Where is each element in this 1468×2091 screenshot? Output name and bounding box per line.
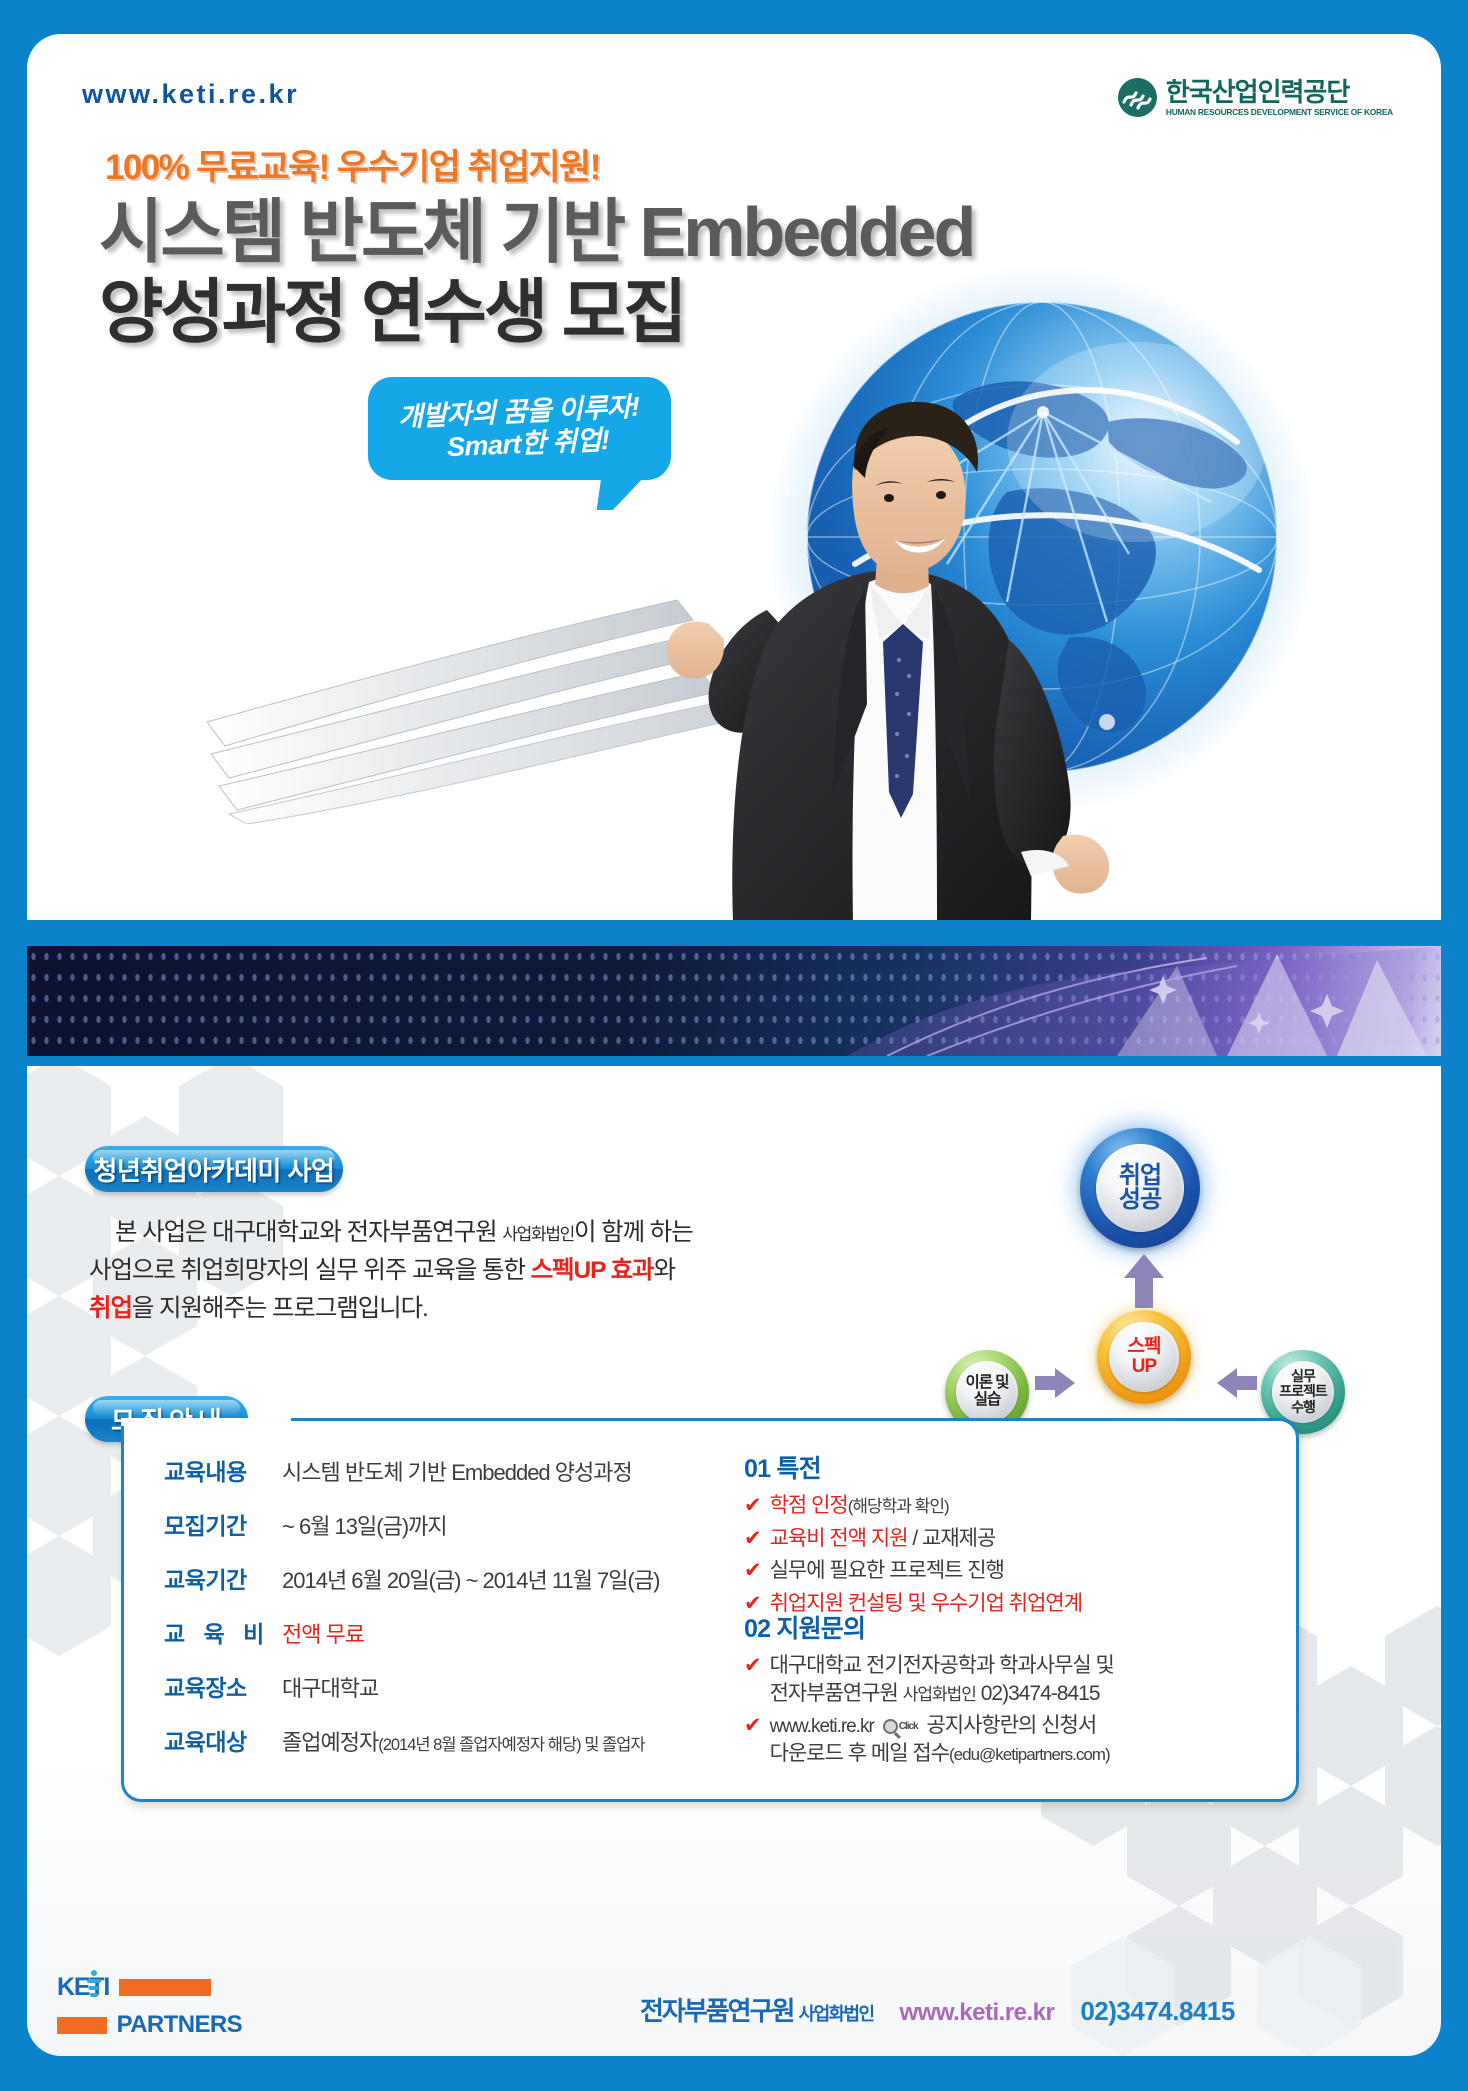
table-row: 교육내용 시스템 반도체 기반 Embedded 양성과정 [164, 1453, 659, 1493]
row-value: 시스템 반도체 기반 Embedded 양성과정 [282, 1455, 632, 1487]
row-label: 모집기간 [164, 1507, 282, 1541]
diagram-arrow-left-icon [1217, 1368, 1257, 1398]
hrd-logo-english: HUMAN RESOURCES DEVELOPMENT SERVICE OF K… [1166, 108, 1393, 116]
inquiry-phone: 02)3474-8415 [976, 1682, 1100, 1705]
content-card: 청년취업아카데미 사업 본 사업은 대구대학교와 전자부품연구원 사업화법인이 … [27, 1066, 1441, 2056]
hrd-logo-mark-icon [1118, 78, 1157, 117]
keti-partners-logo: KETI PARTNERS [57, 1973, 242, 2037]
benefits-block: 01 특전 ✔ 학점 인정(해당학과 확인) ✔ 교육비 전액 지원 / 교재제… [744, 1449, 1082, 1623]
click-label: Click [899, 1720, 918, 1733]
logo-dots-icon [86, 1969, 102, 2001]
list-item: ✔ www.keti.re.kr Click 공지사항란의 신청서 다운로드 후… [744, 1712, 1114, 1767]
table-row: 교 육 비 전액 무료 [164, 1615, 659, 1655]
intro-3b: 을 지원해주는 프로그램입니다. [132, 1295, 428, 1322]
intro-3a: 취업 [89, 1295, 132, 1322]
hrd-logo-korean: 한국산업인력공단 [1166, 79, 1393, 105]
logo-bar-top [119, 1979, 211, 1996]
check-icon: ✔ [744, 1652, 761, 1707]
node-project-line3: 수행 [1279, 1400, 1327, 1415]
benefits-title: 특전 [776, 1455, 820, 1483]
list-item: ✔ 실무에 필요한 프로젝트 진행 [744, 1557, 1082, 1585]
row-label: 교육대상 [164, 1723, 282, 1757]
hero-title-line2: 양성과정 연수생 모집 [99, 256, 685, 357]
table-row: 모집기간 ~ 6월 13일(금)까지 [164, 1507, 659, 1547]
hero-card: www.keti.re.kr 한국산업인력공단 HUMAN RESOURCES … [27, 34, 1441, 920]
check-icon: ✔ [744, 1525, 761, 1553]
tech-banner [27, 946, 1441, 1056]
row-label: 교 육 비 [164, 1615, 282, 1649]
businessman-photo [617, 374, 1177, 920]
diagram-node-success: 취업 성공 [1080, 1128, 1200, 1248]
row-value: ~ 6월 13일(금)까지 [282, 1509, 447, 1541]
check-icon: ✔ [744, 1712, 761, 1767]
inquiry-item2-line1: 공지사항란의 신청서 [926, 1714, 1096, 1737]
website-url-top[interactable]: www.keti.re.kr [82, 79, 299, 110]
intro-2c: 와 [653, 1257, 674, 1284]
bubble-line-2: Smart한 취업! [446, 424, 610, 463]
table-row: 교육대상 졸업예정자(2014년 8월 졸업자예정자 해당) 및 졸업자 [164, 1723, 659, 1763]
hrd-korea-logo: 한국산업인력공단 HUMAN RESOURCES DEVELOPMENT SER… [1118, 78, 1393, 117]
academy-intro-text: 본 사업은 대구대학교와 전자부품연구원 사업화법인이 함께 하는 사업으로 취… [89, 1214, 709, 1329]
diagram-node-spec-up: 스펙 UP [1097, 1310, 1191, 1404]
benefits-number: 01 [744, 1455, 770, 1483]
row-value: 대구대학교 [282, 1671, 378, 1703]
footer-url[interactable]: www.keti.re.kr [899, 1999, 1054, 2027]
intro-1a: 본 사업은 대구대학교와 전자부품연구원 [115, 1219, 502, 1246]
node-theory-line2: 실습 [965, 1392, 1008, 1409]
recruitment-info-box: 교육내용 시스템 반도체 기반 Embedded 양성과정 모집기간 ~ 6월 … [121, 1418, 1299, 1802]
diagram-arrow-up-icon [1122, 1254, 1166, 1308]
node-spec-line2: UP [1128, 1357, 1161, 1377]
section-header-academy: 청년취업아카데미 사업 [85, 1146, 343, 1192]
inquiry-title: 지원문의 [776, 1615, 865, 1643]
row-value: 졸업예정자 [282, 1730, 378, 1755]
inquiry-block: 02 지원문의 ✔ 대구대학교 전기전자공학과 학과사무실 및 전자부품연구원 … [744, 1609, 1114, 1773]
benefit-plain: 실무에 필요한 프로젝트 진행 [770, 1557, 1004, 1585]
diagram-arrow-right-icon [1035, 1368, 1075, 1398]
footer-org-note: 사업화법인 [799, 2004, 874, 2024]
row-label: 교육기간 [164, 1561, 282, 1595]
speech-bubble: 개발자의 꿈을 이루자! Smart한 취업! [368, 377, 671, 480]
footer-contact: 전자부품연구원 사업화법인 www.keti.re.kr 02)3474.841… [640, 1991, 1235, 2028]
intro-2a: 사업으로 취업희망자의 실무 위주 교육을 통한 [89, 1257, 531, 1284]
benefit-plain: / 교재제공 [908, 1527, 996, 1550]
click-here-indicator[interactable]: Click [883, 1719, 918, 1734]
node-theory-line1: 이론 및 [965, 1375, 1008, 1392]
row-label: 교육장소 [164, 1669, 282, 1703]
benefit-red: 교육비 전액 지원 [770, 1527, 908, 1550]
node-project-line2: 프로젝트 [1279, 1384, 1327, 1399]
intro-2b: 스펙UP 효과 [531, 1257, 654, 1284]
row-label: 교육내용 [164, 1453, 282, 1487]
inquiry-line2b: 사업화법인 [903, 1685, 976, 1704]
footer-tel[interactable]: 02)3474.8415 [1080, 1996, 1234, 2027]
node-spec-line1: 스펙 [1128, 1337, 1161, 1357]
logo-bar-bottom [57, 2017, 107, 2034]
inquiry-item2-line2a: 다운로드 후 메일 접수 [770, 1742, 949, 1765]
node-project-line1: 실무 [1279, 1369, 1327, 1384]
poster-root: www.keti.re.kr 한국산업인력공단 HUMAN RESOURCES … [0, 0, 1468, 2091]
benefit-red: 학점 인정 [770, 1494, 848, 1517]
recruitment-detail-rows: 교육내용 시스템 반도체 기반 Embedded 양성과정 모집기간 ~ 6월 … [164, 1453, 659, 1777]
inquiry-line2a: 전자부품연구원 [770, 1682, 903, 1705]
row-value: 2014년 6월 20일(금) ~ 2014년 11월 7일(금) [282, 1563, 659, 1595]
inquiry-email[interactable]: (edu@ketipartners.com) [949, 1745, 1110, 1764]
benefit-note: (해당학과 확인) [848, 1497, 949, 1516]
check-icon: ✔ [744, 1557, 761, 1585]
success-path-diagram: 취업 성공 스펙 UP 이론 및 실습 [917, 1128, 1387, 1408]
logo-partners-text: PARTNERS [117, 2011, 242, 2039]
intro-1c: 이 함께 하는 [574, 1219, 693, 1246]
magnifier-icon [883, 1719, 898, 1734]
table-row: 교육기간 2014년 6월 20일(금) ~ 2014년 11월 7일(금) [164, 1561, 659, 1601]
inquiry-number: 02 [744, 1615, 770, 1643]
node-success-line2: 성공 [1119, 1188, 1161, 1212]
node-success-line1: 취업 [1119, 1164, 1161, 1188]
list-item: ✔ 대구대학교 전기전자공학과 학과사무실 및 전자부품연구원 사업화법인 02… [744, 1652, 1114, 1707]
footer-org: 전자부품연구원 [640, 1996, 799, 2026]
row-value-note: (2014년 8월 졸업자예정자 해당) 및 졸업자 [378, 1736, 644, 1754]
intro-1b: 사업화법인 [502, 1225, 574, 1244]
table-row: 교육장소 대구대학교 [164, 1669, 659, 1709]
inquiry-line1: 대구대학교 전기전자공학과 학과사무실 및 [770, 1654, 1114, 1677]
inquiry-website[interactable]: www.keti.re.kr [770, 1716, 874, 1737]
check-icon: ✔ [744, 1492, 761, 1520]
list-item: ✔ 학점 인정(해당학과 확인) [744, 1492, 1082, 1520]
list-item: ✔ 교육비 전액 지원 / 교재제공 [744, 1525, 1082, 1553]
row-value: 전액 무료 [282, 1617, 364, 1649]
banner-light-graphics [27, 946, 1441, 1056]
